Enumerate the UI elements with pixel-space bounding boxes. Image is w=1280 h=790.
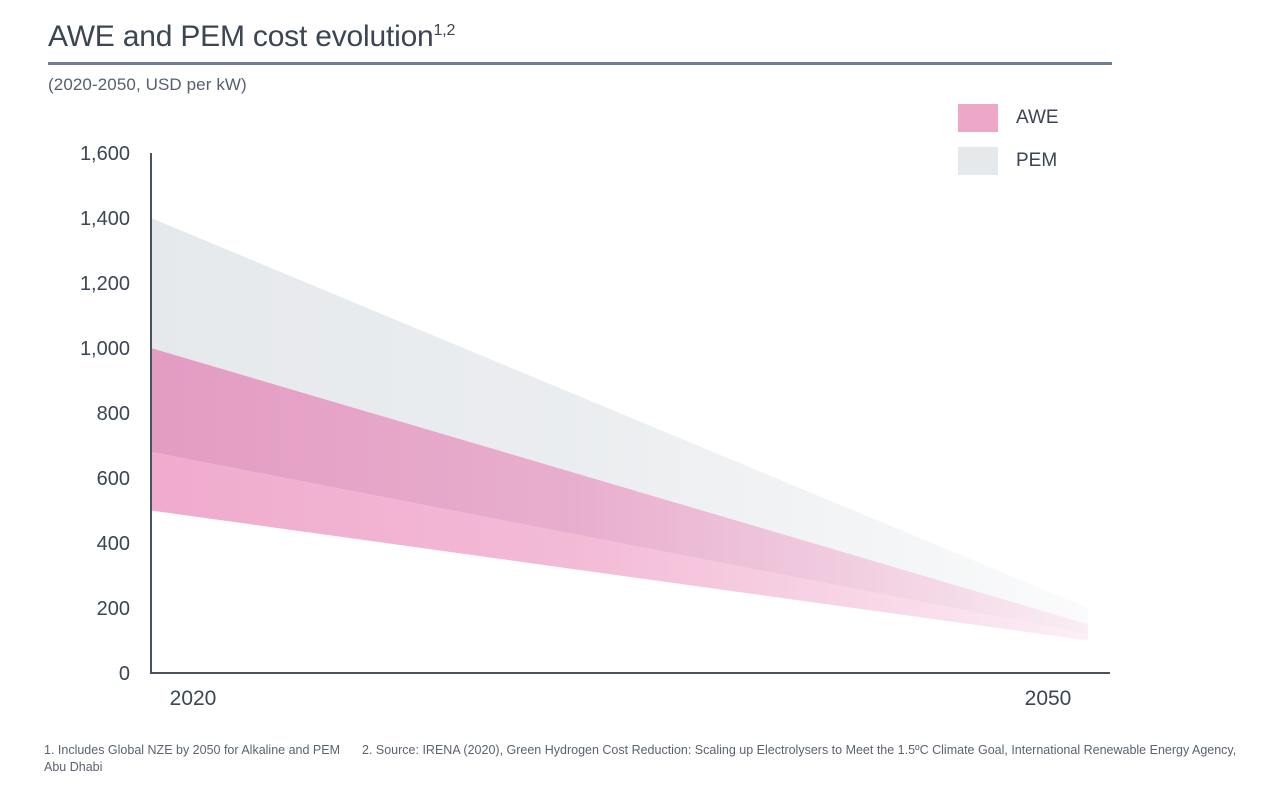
slide-canvas: AWE and PEM cost evolution1,2 (2020-2050… (0, 0, 1280, 790)
chart-svg: 02004006008001,0001,2001,4001,600 202020… (0, 0, 1280, 720)
y-tick-label: 1,200 (80, 273, 130, 295)
x-tick-label: 2050 (1025, 687, 1072, 710)
y-tick-label: 1,400 (80, 208, 130, 230)
y-tick-label: 0 (119, 663, 130, 685)
y-tick-label: 400 (97, 533, 130, 555)
footnote-1: 1. Includes Global NZE by 2050 for Alkal… (44, 743, 340, 757)
x-tick-label: 2020 (170, 687, 217, 710)
y-tick-label: 200 (97, 598, 130, 620)
footnotes: 1. Includes Global NZE by 2050 for Alkal… (44, 742, 1244, 776)
chart-x-tick-labels: 20202050 (170, 687, 1072, 710)
y-tick-label: 1,600 (80, 143, 130, 165)
cost-evolution-area-chart: 02004006008001,0001,2001,4001,600 202020… (0, 0, 1280, 720)
chart-bands-layer (151, 218, 1088, 641)
y-tick-label: 1,000 (80, 338, 130, 360)
chart-y-tick-labels: 02004006008001,0001,2001,4001,600 (80, 143, 130, 685)
y-tick-label: 800 (97, 403, 130, 425)
y-tick-label: 600 (97, 468, 130, 490)
